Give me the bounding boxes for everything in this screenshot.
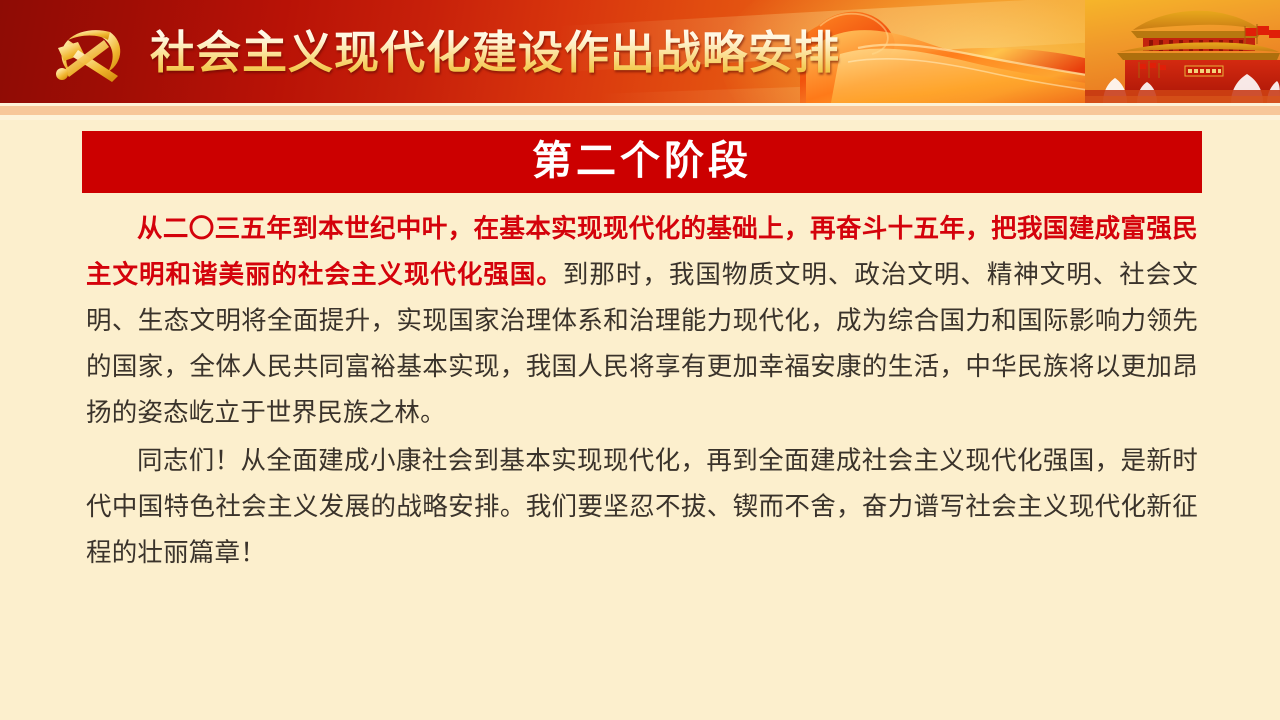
section-title-bar: 第二个阶段 <box>82 131 1202 193</box>
header-banner: 社会主义现代化建设作出战略安排 <box>0 0 1280 103</box>
party-emblem-icon <box>38 24 142 86</box>
paragraph-2: 同志们！从全面建成小康社会到基本实现现代化，再到全面建成社会主义现代化强国，是新… <box>86 438 1198 576</box>
paragraph-1: 从二〇三五年到本世纪中叶，在基本实现现代化的基础上，再奋斗十五年，把我国建成富强… <box>86 206 1198 436</box>
body-content: 从二〇三五年到本世纪中叶，在基本实现现代化的基础上，再奋斗十五年，把我国建成富强… <box>86 206 1198 576</box>
header-separator-light-bottom <box>0 115 1280 120</box>
section-title-text: 第二个阶段 <box>532 141 752 183</box>
slide-root: 社会主义现代化建设作出战略安排 第二个阶段 从二〇三五年到本世纪中叶，在基本实现… <box>0 0 1280 720</box>
header-title: 社会主义现代化建设作出战略安排 <box>150 21 840 85</box>
paragraph-2-body: 同志们！从全面建成小康社会到基本实现现代化，再到全面建成社会主义现代化强国，是新… <box>86 446 1198 568</box>
header-separator-peach <box>0 106 1280 115</box>
tiananmen-gate-icon <box>1085 0 1280 103</box>
